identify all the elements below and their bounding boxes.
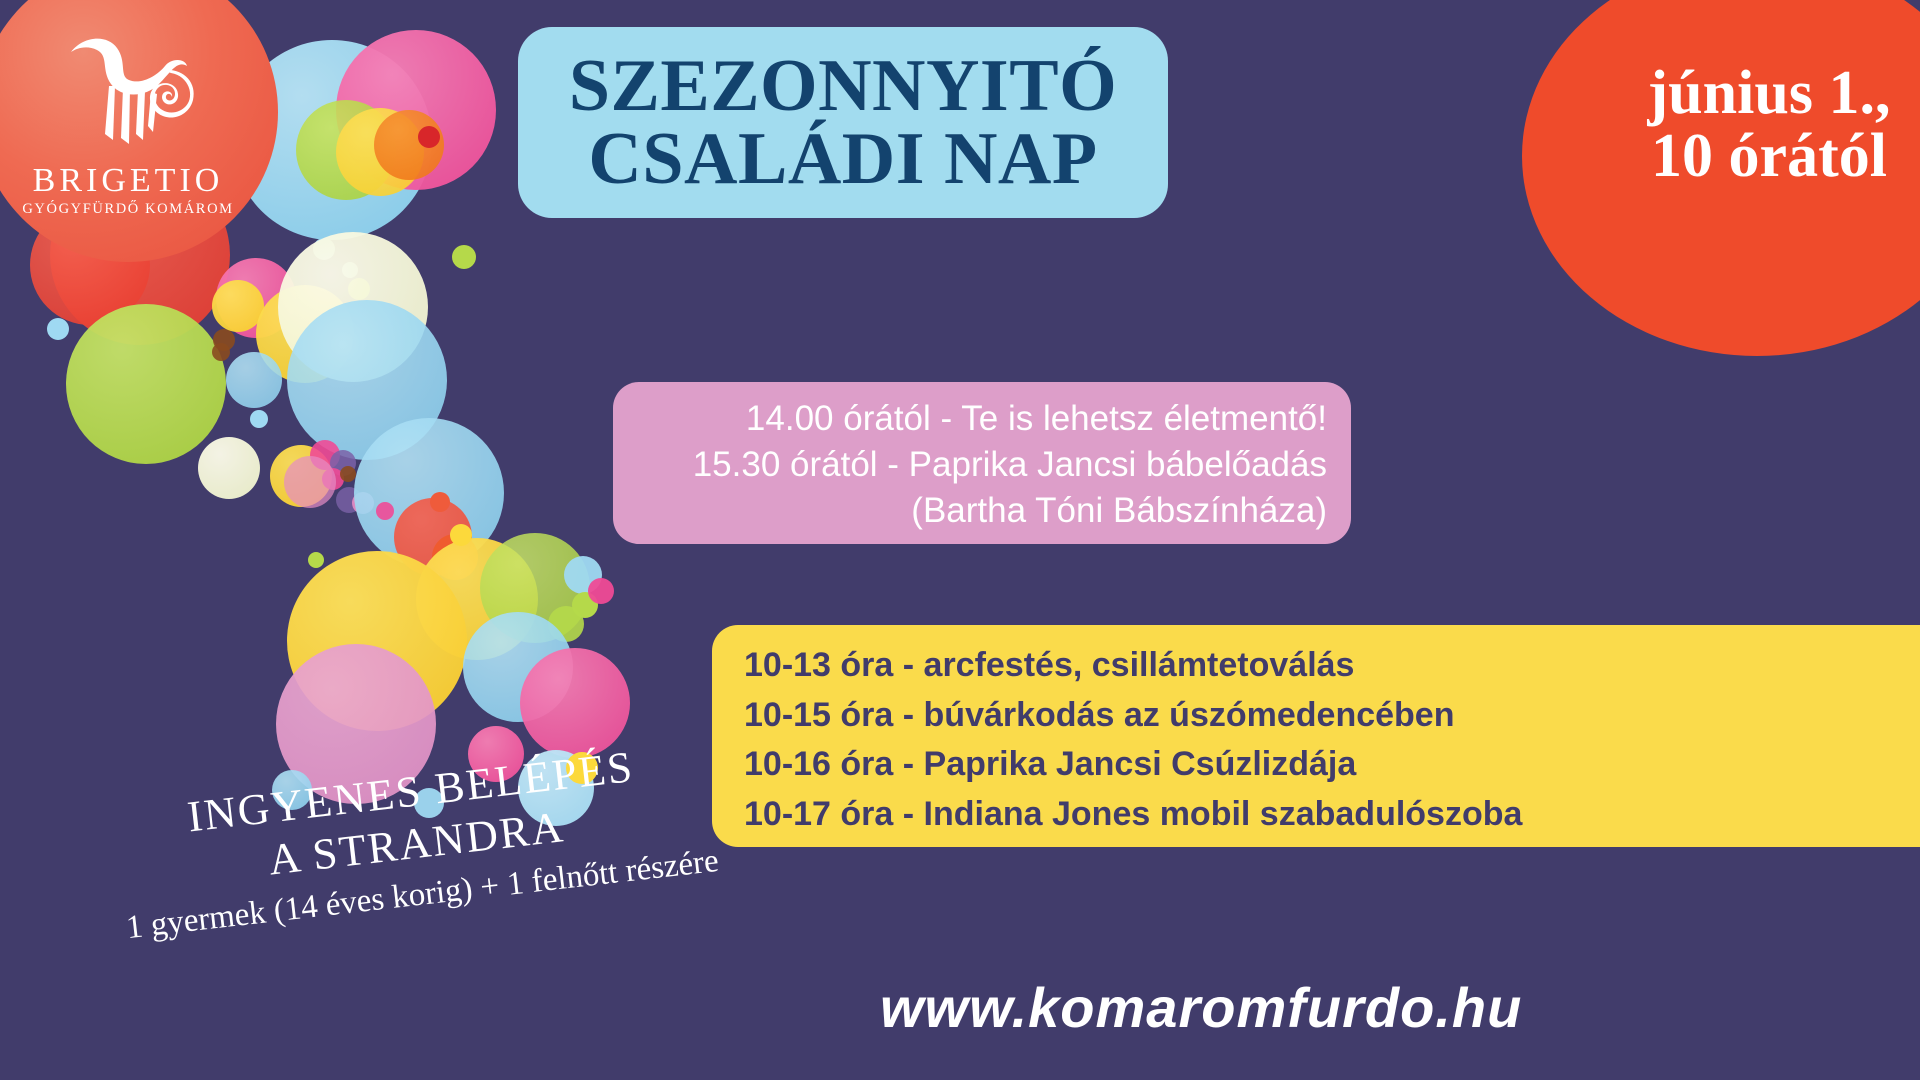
programme-item: 10-16 óra - Paprika Jancsi Csúzlizdája — [744, 740, 1920, 790]
website-url[interactable]: www.komaromfurdo.hu — [880, 975, 1500, 1040]
bubble — [340, 466, 356, 482]
programme-item: 10-13 óra - arcfestés, csillámtetoválás — [744, 641, 1920, 691]
bubble — [47, 318, 69, 340]
programme-item: 10-15 óra - búvárkodás az úszómedencében — [744, 691, 1920, 741]
bubble — [226, 352, 282, 408]
programme-item: 15.30 órától - Paprika Jancsi bábelőadás — [643, 442, 1327, 488]
bubble — [250, 410, 268, 428]
date-line-1: június 1., — [1648, 62, 1891, 125]
bubble — [212, 343, 230, 361]
event-title-line-2: CSALÁDI NAP — [588, 123, 1097, 196]
bubble — [520, 648, 630, 758]
bubble — [376, 502, 394, 520]
bubble — [284, 456, 336, 508]
logo-wordmark: BRIGETIO — [33, 164, 224, 198]
programme-item: 14.00 órától - Te is lehetsz életmentő! — [643, 396, 1327, 442]
bubble — [452, 245, 476, 269]
programme-item: 10-17 óra - Indiana Jones mobil szabadul… — [744, 790, 1920, 840]
event-title-line-1: SZEZONNYITÓ — [569, 50, 1117, 123]
bubble — [198, 437, 260, 499]
afternoon-programme-box: 14.00 órától - Te is lehetsz életmentő! … — [613, 382, 1351, 544]
poster-canvas: BRIGETIO GYÓGYFÜRDŐ KOMÁROM SZEZONNYITÓ … — [0, 0, 1920, 1080]
bubble — [66, 304, 226, 464]
logo-subtitle: GYÓGYFÜRDŐ KOMÁROM — [22, 201, 233, 218]
bubble — [418, 126, 440, 148]
date-line-2: 10 órától — [1651, 125, 1887, 188]
bubble — [588, 578, 614, 604]
event-title-banner: SZEZONNYITÓ CSALÁDI NAP — [518, 27, 1168, 218]
bubble — [430, 492, 450, 512]
ionic-column-icon — [53, 22, 203, 162]
bubble — [308, 552, 324, 568]
daytime-programme-box: 10-13 óra - arcfestés, csillámtetoválás … — [712, 625, 1920, 847]
programme-item: (Bartha Tóni Bábszínháza) — [643, 488, 1327, 534]
bubble — [450, 524, 472, 546]
